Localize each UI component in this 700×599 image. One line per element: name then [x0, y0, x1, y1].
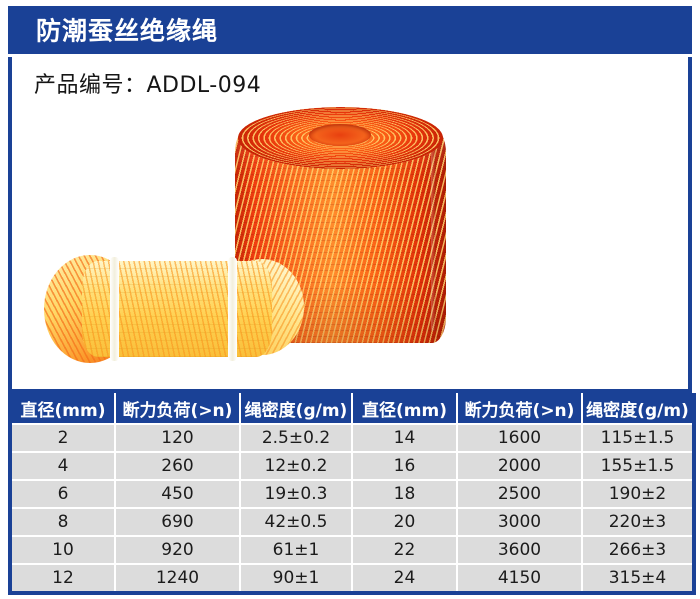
- table-header-row: 直径(mm) 断力负荷(>n) 绳密度(g/m) 直径(mm) 断力负荷(>n)…: [10, 393, 694, 424]
- cell-density-2: 220±3: [582, 508, 694, 536]
- column-header-diameter-1: 直径(mm): [10, 393, 115, 424]
- cell-density-2: 155±1.5: [582, 452, 694, 480]
- spool-seam: [431, 141, 436, 331]
- table-row: 4 260 12±0.2 16 2000 155±1.5: [10, 452, 694, 480]
- specification-table: 直径(mm) 断力负荷(>n) 绳密度(g/m) 直径(mm) 断力负荷(>n)…: [8, 393, 696, 595]
- hank-tie-left: [110, 257, 119, 361]
- column-header-diameter-2: 直径(mm): [352, 393, 457, 424]
- cell-diameter-2: 24: [352, 564, 457, 593]
- column-header-breakload-2: 断力负荷(>n): [457, 393, 582, 424]
- cell-density-1: 19±0.3: [240, 480, 352, 508]
- cell-diameter-1: 6: [10, 480, 115, 508]
- cell-diameter-1: 8: [10, 508, 115, 536]
- column-header-density-2: 绳密度(g/m): [582, 393, 694, 424]
- table-row: 10 920 61±1 22 3600 266±3: [10, 536, 694, 564]
- cell-diameter-1: 10: [10, 536, 115, 564]
- product-code-label: 产品编号：ADDL-094: [34, 67, 261, 99]
- cell-density-1: 12±0.2: [240, 452, 352, 480]
- cell-diameter-2: 22: [352, 536, 457, 564]
- cell-diameter-2: 16: [352, 452, 457, 480]
- cell-breakload-2: 1600: [457, 424, 582, 452]
- cell-breakload-1: 260: [115, 452, 240, 480]
- table-row: 8 690 42±0.5 20 3000 220±3: [10, 508, 694, 536]
- table-body: 2 120 2.5±0.2 14 1600 115±1.5 4 260 12±0…: [10, 424, 694, 593]
- table-row: 6 450 19±0.3 18 2500 190±2: [10, 480, 694, 508]
- cell-breakload-1: 1240: [115, 564, 240, 593]
- cell-breakload-2: 2000: [457, 452, 582, 480]
- product-spec-page: 防潮蚕丝绝缘绳 产品编号：ADDL-094: [0, 0, 700, 599]
- cell-density-2: 115±1.5: [582, 424, 694, 452]
- table-row: 12 1240 90±1 24 4150 315±4: [10, 564, 694, 593]
- cell-breakload-1: 920: [115, 536, 240, 564]
- cell-density-1: 42±0.5: [240, 508, 352, 536]
- cell-diameter-1: 4: [10, 452, 115, 480]
- rope-hank-image: [44, 251, 304, 369]
- cell-density-1: 90±1: [240, 564, 352, 593]
- cell-breakload-1: 690: [115, 508, 240, 536]
- cell-density-2: 190±2: [582, 480, 694, 508]
- column-header-density-1: 绳密度(g/m): [240, 393, 352, 424]
- hank-tie-right: [228, 257, 237, 361]
- cell-breakload-2: 4150: [457, 564, 582, 593]
- cell-breakload-2: 3000: [457, 508, 582, 536]
- cell-diameter-1: 12: [10, 564, 115, 593]
- cell-diameter-2: 20: [352, 508, 457, 536]
- cell-breakload-1: 450: [115, 480, 240, 508]
- cell-density-2: 315±4: [582, 564, 694, 593]
- cell-diameter-2: 14: [352, 424, 457, 452]
- cell-diameter-2: 18: [352, 480, 457, 508]
- cell-diameter-1: 2: [10, 424, 115, 452]
- content-panel: 产品编号：ADDL-094: [8, 57, 692, 393]
- product-photo: [12, 99, 688, 389]
- cell-density-1: 2.5±0.2: [240, 424, 352, 452]
- cell-density-1: 61±1: [240, 536, 352, 564]
- cell-breakload-2: 3600: [457, 536, 582, 564]
- cell-breakload-2: 2500: [457, 480, 582, 508]
- page-title: 防潮蚕丝绝缘绳: [36, 11, 218, 47]
- cell-breakload-1: 120: [115, 424, 240, 452]
- table-row: 2 120 2.5±0.2 14 1600 115±1.5: [10, 424, 694, 452]
- cell-density-2: 266±3: [582, 536, 694, 564]
- spool-core-hole: [309, 124, 371, 146]
- title-banner: 防潮蚕丝绝缘绳: [8, 6, 692, 54]
- column-header-breakload-1: 断力负荷(>n): [115, 393, 240, 424]
